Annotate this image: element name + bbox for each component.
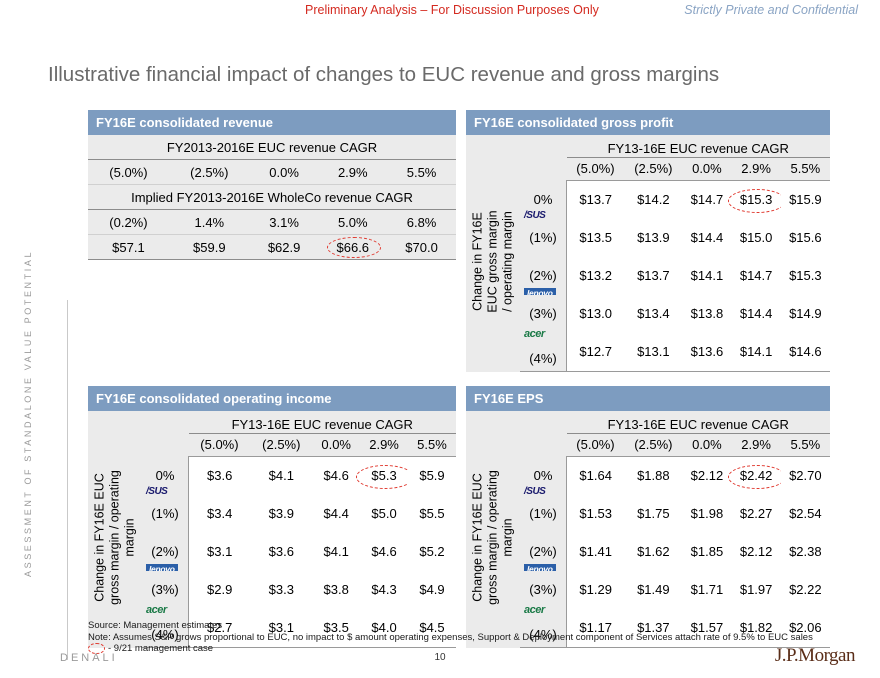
oi-cell: $5.5 bbox=[408, 495, 456, 533]
table-row: 0% /SUS $1.64 $1.88 $2.12 $2.42 $2.70 bbox=[466, 456, 830, 495]
oi-cell: $4.4 bbox=[312, 495, 360, 533]
eps-cell: $1.75 bbox=[624, 495, 682, 533]
jpmorgan-logo: J.P.Morgan bbox=[775, 645, 855, 667]
eps-cell: $2.70 bbox=[781, 456, 830, 495]
euc-cagr-cell: 2.9% bbox=[318, 160, 387, 185]
eps-cell-text: $2.42 bbox=[740, 468, 773, 483]
eps-cell: $1.71 bbox=[682, 571, 731, 609]
oi-cell: $3.6 bbox=[189, 456, 251, 495]
gp-cell: $13.8 bbox=[682, 295, 731, 333]
acer-logo-icon: acer bbox=[524, 605, 545, 616]
revenue-value-cell-highlighted: $66.6 bbox=[318, 235, 387, 260]
table-row: (1%) $3.4 $3.9 $4.4 $5.0 $5.5 bbox=[88, 495, 456, 533]
oi-cell: $4.9 bbox=[408, 571, 456, 609]
euc-cagr-cell: (2.5%) bbox=[169, 160, 250, 185]
eps-col-header: 2.9% bbox=[732, 433, 781, 456]
table-row: (3%) $13.0 $13.4 $13.8 $14.4 $14.9 bbox=[466, 295, 830, 333]
oi-cell: $5.9 bbox=[408, 456, 456, 495]
eps-row-header: (1%) bbox=[520, 495, 567, 533]
gp-cell: $13.7 bbox=[567, 180, 625, 219]
eps-cell: $2.27 bbox=[732, 495, 781, 533]
gp-cell: $14.9 bbox=[781, 295, 830, 333]
eps-col-header: 0.0% bbox=[682, 433, 731, 456]
eps-cell: $2.12 bbox=[732, 533, 781, 571]
gp-cell: $13.7 bbox=[624, 257, 682, 295]
sidebar-section-label: ASSESSMENT OF STANDALONE VALUE POTENTIAL bbox=[23, 217, 33, 577]
table-row: (2%) lenovo $13.2 $13.7 $14.1 $14.7 $15.… bbox=[466, 257, 830, 295]
acer-logo-icon: acer bbox=[524, 329, 545, 340]
revenue-value-cell: $59.9 bbox=[169, 235, 250, 260]
eps-cell: $2.22 bbox=[781, 571, 830, 609]
oi-cell: $3.1 bbox=[189, 533, 251, 571]
oi-column-axis-title: FY13-16E EUC revenue CAGR bbox=[189, 417, 457, 433]
revenue-value-text: $66.6 bbox=[337, 240, 370, 255]
eps-row-header: 0% /SUS bbox=[520, 456, 567, 495]
eps-cell: $1.53 bbox=[567, 495, 625, 533]
oi-cell: $3.3 bbox=[250, 571, 312, 609]
wholeco-cagr-cell: 3.1% bbox=[250, 210, 319, 235]
oi-col-header: (5.0%) bbox=[189, 433, 251, 456]
gp-cell: $14.6 bbox=[781, 333, 830, 372]
oi-row-header: (1%) bbox=[142, 495, 189, 533]
eps-axis-caption: Change in FY16E EUC gross margin / opera… bbox=[471, 431, 516, 645]
gp-cell: $14.4 bbox=[682, 219, 731, 257]
gp-row-header: (3%) bbox=[520, 295, 567, 333]
gp-cell: $15.0 bbox=[732, 219, 781, 257]
oi-cell: $4.1 bbox=[312, 533, 360, 571]
oi-col-header: 5.5% bbox=[408, 433, 456, 456]
confidentiality-banner-right: Strictly Private and Confidential bbox=[684, 3, 858, 17]
panel-title-gross-profit: FY16E consolidated gross profit bbox=[466, 110, 830, 135]
eps-col-header: (2.5%) bbox=[624, 433, 682, 456]
gp-col-header: (2.5%) bbox=[624, 157, 682, 180]
table-row: (0.2%) 1.4% 3.1% 5.0% 6.8% bbox=[88, 210, 456, 235]
table-row: Change in FY16E EUC gross margin / opera… bbox=[466, 417, 830, 433]
table-row: (5.0%) (2.5%) 0.0% 2.9% 5.5% bbox=[88, 433, 456, 456]
euc-cagr-header: FY2013-2016E EUC revenue CAGR bbox=[88, 135, 456, 160]
footnote-source: Source: Management estimates bbox=[88, 620, 813, 632]
eps-cell: $1.49 bbox=[624, 571, 682, 609]
table-row: (1%) $13.5 $13.9 $14.4 $15.0 $15.6 bbox=[466, 219, 830, 257]
euc-cagr-cell: 5.5% bbox=[387, 160, 456, 185]
table-row: (5.0%) (2.5%) 0.0% 2.9% 5.5% bbox=[466, 433, 830, 456]
gp-cell-text: $15.3 bbox=[740, 192, 773, 207]
gp-col-header: 0.0% bbox=[682, 157, 731, 180]
eps-cell: $2.54 bbox=[781, 495, 830, 533]
gp-cell: $13.5 bbox=[567, 219, 625, 257]
wholeco-cagr-cell: 5.0% bbox=[318, 210, 387, 235]
eps-cell: $1.98 bbox=[682, 495, 731, 533]
gp-cell: $15.6 bbox=[781, 219, 830, 257]
table-row: (1%) $1.53 $1.75 $1.98 $2.27 $2.54 bbox=[466, 495, 830, 533]
oi-row-header: (3%) bbox=[142, 571, 189, 609]
table-row: (2%) lenovo $1.41 $1.62 $1.85 $2.12 $2.3… bbox=[466, 533, 830, 571]
oi-cell: $4.1 bbox=[250, 456, 312, 495]
eps-cell: $2.12 bbox=[682, 456, 731, 495]
table-row: $57.1 $59.9 $62.9 $66.6 $70.0 bbox=[88, 235, 456, 260]
panel-consolidated-gross-profit: FY16E consolidated gross profit Change i… bbox=[466, 110, 830, 372]
gp-cell: $13.0 bbox=[567, 295, 625, 333]
gp-cell: $14.1 bbox=[732, 333, 781, 372]
oi-cell-text: $5.3 bbox=[371, 468, 396, 483]
eps-cell-highlighted: $2.42 bbox=[732, 456, 781, 495]
gp-cell: $15.9 bbox=[781, 180, 830, 219]
panel-consolidated-operating-income: FY16E consolidated operating income Chan… bbox=[88, 386, 456, 648]
gp-row-header: (2%) lenovo bbox=[520, 257, 567, 295]
panel-title-operating-income: FY16E consolidated operating income bbox=[88, 386, 456, 411]
gp-cell: $13.6 bbox=[682, 333, 731, 372]
panel-consolidated-revenue: FY16E consolidated revenue FY2013-2016E … bbox=[88, 110, 456, 260]
oi-cell: $4.6 bbox=[312, 456, 360, 495]
panel-body-eps: Change in FY16E EUC gross margin / opera… bbox=[466, 411, 830, 648]
gp-col-header: 5.5% bbox=[781, 157, 830, 180]
page-number: 10 bbox=[0, 652, 880, 663]
gross-profit-matrix: Change in FY16E EUC gross margin / opera… bbox=[466, 141, 830, 372]
table-row: 0% /SUS $3.6 $4.1 $4.6 $5.3 $5.9 bbox=[88, 456, 456, 495]
panel-body-gross-profit: Change in FY16E EUC gross margin / opera… bbox=[466, 135, 830, 372]
gp-cell: $14.2 bbox=[624, 180, 682, 219]
operating-income-matrix: Change in FY16E EUC gross margin / opera… bbox=[88, 417, 456, 648]
oi-col-header: (2.5%) bbox=[250, 433, 312, 456]
oi-row-header: 0% /SUS bbox=[142, 456, 189, 495]
table-row: Implied FY2013-2016E WholeCo revenue CAG… bbox=[88, 185, 456, 210]
oi-cell: $3.4 bbox=[189, 495, 251, 533]
gp-cell: $13.4 bbox=[624, 295, 682, 333]
table-row: (5.0%) (2.5%) 0.0% 2.9% 5.5% bbox=[88, 160, 456, 185]
oi-cell-highlighted: $5.3 bbox=[360, 456, 408, 495]
gp-cell: $14.7 bbox=[732, 257, 781, 295]
eps-column-axis-title: FY13-16E EUC revenue CAGR bbox=[567, 417, 831, 433]
revenue-value-cell: $70.0 bbox=[387, 235, 456, 260]
table-row: Change in FY16E EUC gross margin / opera… bbox=[88, 417, 456, 433]
table-row: (3%) $1.29 $1.49 $1.71 $1.97 $2.22 bbox=[466, 571, 830, 609]
gp-column-axis-title: FY13-16E EUC revenue CAGR bbox=[567, 141, 831, 157]
gp-row-header: (1%) bbox=[520, 219, 567, 257]
footnote-note: Note: Assumes S&P grows proportional to … bbox=[88, 632, 813, 644]
sidebar-divider bbox=[67, 300, 68, 660]
euc-cagr-cell: (5.0%) bbox=[88, 160, 169, 185]
footnotes: Source: Management estimates Note: Assum… bbox=[88, 620, 813, 655]
table-row: (5.0%) (2.5%) 0.0% 2.9% 5.5% bbox=[466, 157, 830, 180]
oi-cell: $5.2 bbox=[408, 533, 456, 571]
gp-cell-highlighted: $15.3 bbox=[732, 180, 781, 219]
oi-row-header: (2%) lenovo bbox=[142, 533, 189, 571]
table-row: (2%) lenovo $3.1 $3.6 $4.1 $4.6 $5.2 bbox=[88, 533, 456, 571]
gp-cell: $14.4 bbox=[732, 295, 781, 333]
gp-axis-caption: Change in FY16E EUC gross margin / opera… bbox=[471, 159, 516, 365]
gp-row-header: acer (4%) bbox=[520, 333, 567, 372]
panel-body-revenue: FY2013-2016E EUC revenue CAGR (5.0%) (2.… bbox=[88, 135, 456, 260]
oi-cell: $2.9 bbox=[189, 571, 251, 609]
oi-cell: $3.6 bbox=[250, 533, 312, 571]
gp-cell: $13.9 bbox=[624, 219, 682, 257]
oi-col-header: 0.0% bbox=[312, 433, 360, 456]
revenue-value-cell: $62.9 bbox=[250, 235, 319, 260]
table-row: acer (4%) $12.7 $13.1 $13.6 $14.1 $14.6 bbox=[466, 333, 830, 372]
gp-cell: $13.2 bbox=[567, 257, 625, 295]
panel-title-revenue: FY16E consolidated revenue bbox=[88, 110, 456, 135]
wholeco-cagr-cell: 6.8% bbox=[387, 210, 456, 235]
oi-axis-caption: Change in FY16E EUC gross margin / opera… bbox=[93, 431, 138, 645]
eps-col-header: 5.5% bbox=[781, 433, 830, 456]
page-title: Illustrative financial impact of changes… bbox=[48, 63, 719, 87]
oi-vertical-axis: Change in FY16E EUC gross margin / opera… bbox=[88, 417, 142, 647]
eps-cell: $1.41 bbox=[567, 533, 625, 571]
eps-col-header: (5.0%) bbox=[567, 433, 625, 456]
panel-title-eps: FY16E EPS bbox=[466, 386, 830, 411]
panel-eps: FY16E EPS Change in FY16E EUC gross marg… bbox=[466, 386, 830, 648]
gp-row-header: 0% /SUS bbox=[520, 180, 567, 219]
eps-cell: $1.88 bbox=[624, 456, 682, 495]
acer-logo-icon: acer bbox=[146, 605, 167, 616]
oi-cell: $3.9 bbox=[250, 495, 312, 533]
table-row: Change in FY16E EUC gross margin / opera… bbox=[466, 141, 830, 157]
revenue-value-cell: $57.1 bbox=[88, 235, 169, 260]
wholeco-cagr-header: Implied FY2013-2016E WholeCo revenue CAG… bbox=[88, 185, 456, 210]
table-row: (3%) $2.9 $3.3 $3.8 $4.3 $4.9 bbox=[88, 571, 456, 609]
oi-cell: $4.3 bbox=[360, 571, 408, 609]
wholeco-cagr-cell: (0.2%) bbox=[88, 210, 169, 235]
eps-vertical-axis: Change in FY16E EUC gross margin / opera… bbox=[466, 417, 520, 647]
eps-matrix: Change in FY16E EUC gross margin / opera… bbox=[466, 417, 830, 648]
table-row: FY2013-2016E EUC revenue CAGR bbox=[88, 135, 456, 160]
panel-body-operating-income: Change in FY16E EUC gross margin / opera… bbox=[88, 411, 456, 648]
eps-cell: $1.97 bbox=[732, 571, 781, 609]
eps-row-header: (2%) lenovo bbox=[520, 533, 567, 571]
table-row: 0% /SUS $13.7 $14.2 $14.7 $15.3 $15.9 bbox=[466, 180, 830, 219]
oi-cell: $5.0 bbox=[360, 495, 408, 533]
eps-row-header: (3%) bbox=[520, 571, 567, 609]
gp-cell: $14.7 bbox=[682, 180, 731, 219]
eps-cell: $2.38 bbox=[781, 533, 830, 571]
gp-cell: $14.1 bbox=[682, 257, 731, 295]
confidentiality-banner-left: Preliminary Analysis – For Discussion Pu… bbox=[305, 3, 599, 17]
eps-cell: $1.64 bbox=[567, 456, 625, 495]
gp-cell: $12.7 bbox=[567, 333, 625, 372]
oi-col-header: 2.9% bbox=[360, 433, 408, 456]
gp-vertical-axis: Change in FY16E EUC gross margin / opera… bbox=[466, 141, 520, 371]
gp-col-header: 2.9% bbox=[732, 157, 781, 180]
wholeco-cagr-cell: 1.4% bbox=[169, 210, 250, 235]
gp-cell: $13.1 bbox=[624, 333, 682, 372]
oi-cell: $3.8 bbox=[312, 571, 360, 609]
eps-cell: $1.29 bbox=[567, 571, 625, 609]
revenue-table: FY2013-2016E EUC revenue CAGR (5.0%) (2.… bbox=[88, 135, 456, 260]
top-banner: Preliminary Analysis – For Discussion Pu… bbox=[0, 0, 880, 22]
gp-cell: $15.3 bbox=[781, 257, 830, 295]
gp-col-header: (5.0%) bbox=[567, 157, 625, 180]
eps-cell: $1.85 bbox=[682, 533, 731, 571]
euc-cagr-cell: 0.0% bbox=[250, 160, 319, 185]
eps-cell: $1.62 bbox=[624, 533, 682, 571]
oi-cell: $4.6 bbox=[360, 533, 408, 571]
